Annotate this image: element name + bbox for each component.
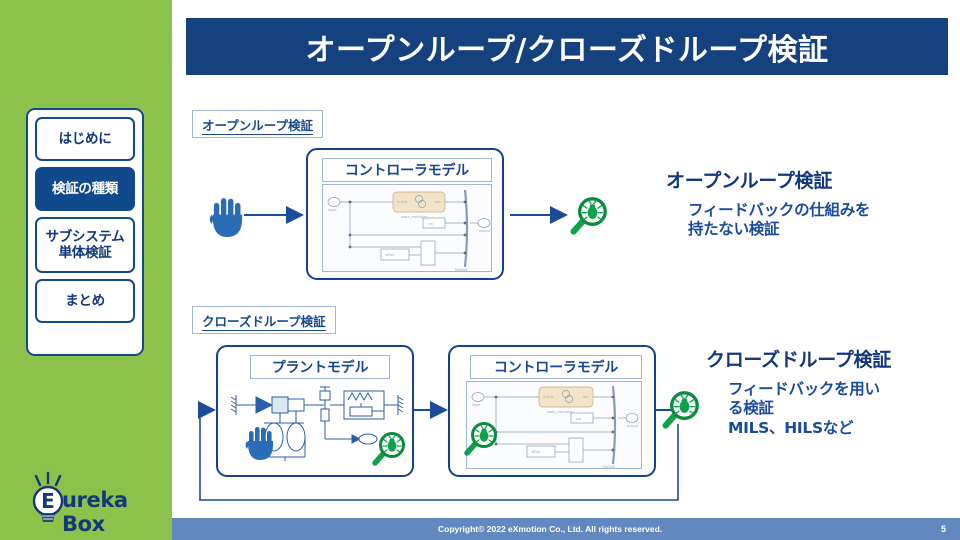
slide-footer: Copyright© 2022 eXmotion Co., Ltd. All r… <box>172 518 960 540</box>
sidebar-item-label: 検証の種類 <box>52 181 118 197</box>
svg-text:cm: cm <box>576 417 582 421</box>
page-title: オープンループ/クローズドループ検証 <box>305 25 828 69</box>
section-label-closed-loop: クローズドループ検証 <box>192 306 336 334</box>
magnifier-bug-icon[interactable] <box>462 421 498 457</box>
hand-icon <box>244 423 278 463</box>
logo-eureka-box: E ureka Box <box>14 470 164 532</box>
simulink-block-diagram-icon: input in this out state_transition cm of… <box>323 185 493 273</box>
svg-text:state_transition: state_transition <box>401 215 427 219</box>
closed-loop-description-line2: る検証 <box>728 399 891 418</box>
sidebar-nav: はじめに 検証の種類 サブシステム単体検証 まとめ <box>26 108 144 356</box>
open-loop-controller-caption: コントローラモデル <box>322 158 492 182</box>
closed-loop-controller-model-box: コントローラモデル <box>448 345 656 477</box>
open-loop-controller-model-box: コントローラモデル <box>306 148 504 280</box>
logo-text: ureka Box <box>62 488 164 536</box>
sidebar-item-summary[interactable]: まとめ <box>35 279 135 323</box>
sidebar-item-label: まとめ <box>65 293 105 309</box>
closed-loop-controller-caption: コントローラモデル <box>470 355 642 379</box>
section-label-open-loop-text: オープンループ検証 <box>202 118 313 135</box>
svg-text:output: output <box>479 229 491 233</box>
magnifier-bug-icon[interactable] <box>568 196 608 236</box>
closed-loop-plant-model-box: プラントモデル <box>216 345 414 477</box>
sidebar-item-intro[interactable]: はじめに <box>35 117 135 161</box>
svg-text:input: input <box>472 403 481 407</box>
svg-text:state_transition: state_transition <box>547 410 573 414</box>
svg-text:in this: in this <box>397 200 408 204</box>
svg-text:MpSwit: MpSwit <box>603 465 616 469</box>
open-loop-simulink-diagram: input in this out state_transition cm of… <box>322 184 492 272</box>
closed-loop-description-line3: MILS、HILSなど <box>728 419 891 438</box>
svg-text:input: input <box>328 208 337 212</box>
slide-title-bar: オープンループ/クローズドループ検証 <box>186 18 948 75</box>
closed-loop-description-line1: フィードバックを用い <box>728 380 891 399</box>
open-loop-description-heading: オープンループ検証 <box>666 166 870 193</box>
closed-loop-description: クローズドループ検証 フィードバックを用い る検証 MILS、HILSなど <box>706 345 891 438</box>
closed-loop-description-heading: クローズドループ検証 <box>706 345 891 372</box>
section-label-open-loop: オープンループ検証 <box>192 110 323 138</box>
page-number: 5 <box>941 524 946 534</box>
copyright-text: Copyright© 2022 eXmotion Co., Ltd. All r… <box>438 524 662 534</box>
hand-icon <box>208 193 248 241</box>
svg-text:output: output <box>627 424 639 428</box>
sidebar-item-verification-types[interactable]: 検証の種類 <box>35 167 135 211</box>
closed-loop-plant-caption: プラントモデル <box>250 355 390 379</box>
open-loop-description-line1: フィードバックの仕組みを <box>688 201 870 220</box>
svg-text:offset: offset <box>385 253 395 257</box>
sidebar-item-label: はじめに <box>59 131 112 147</box>
open-loop-description: オープンループ検証 フィードバックの仕組みを 持たない検証 <box>666 166 870 240</box>
logo-bulb-letter: E <box>41 489 55 513</box>
magnifier-bug-icon[interactable] <box>660 390 700 430</box>
sidebar-item-subsystem-unit-verification[interactable]: サブシステム単体検証 <box>35 217 135 273</box>
section-label-closed-loop-text: クローズドループ検証 <box>202 314 326 331</box>
open-loop-description-line2: 持たない検証 <box>688 220 870 239</box>
svg-text:out: out <box>435 200 441 204</box>
slide: はじめに 検証の種類 サブシステム単体検証 まとめ E ur <box>0 0 960 540</box>
sidebar-item-label: サブシステム単体検証 <box>40 229 130 261</box>
svg-text:cm: cm <box>428 222 434 226</box>
svg-text:MpSwit: MpSwit <box>455 268 468 272</box>
svg-text:offset: offset <box>531 450 541 454</box>
magnifier-bug-icon[interactable] <box>370 431 406 467</box>
svg-text:in this: in this <box>543 395 554 399</box>
svg-text:out: out <box>583 395 589 399</box>
